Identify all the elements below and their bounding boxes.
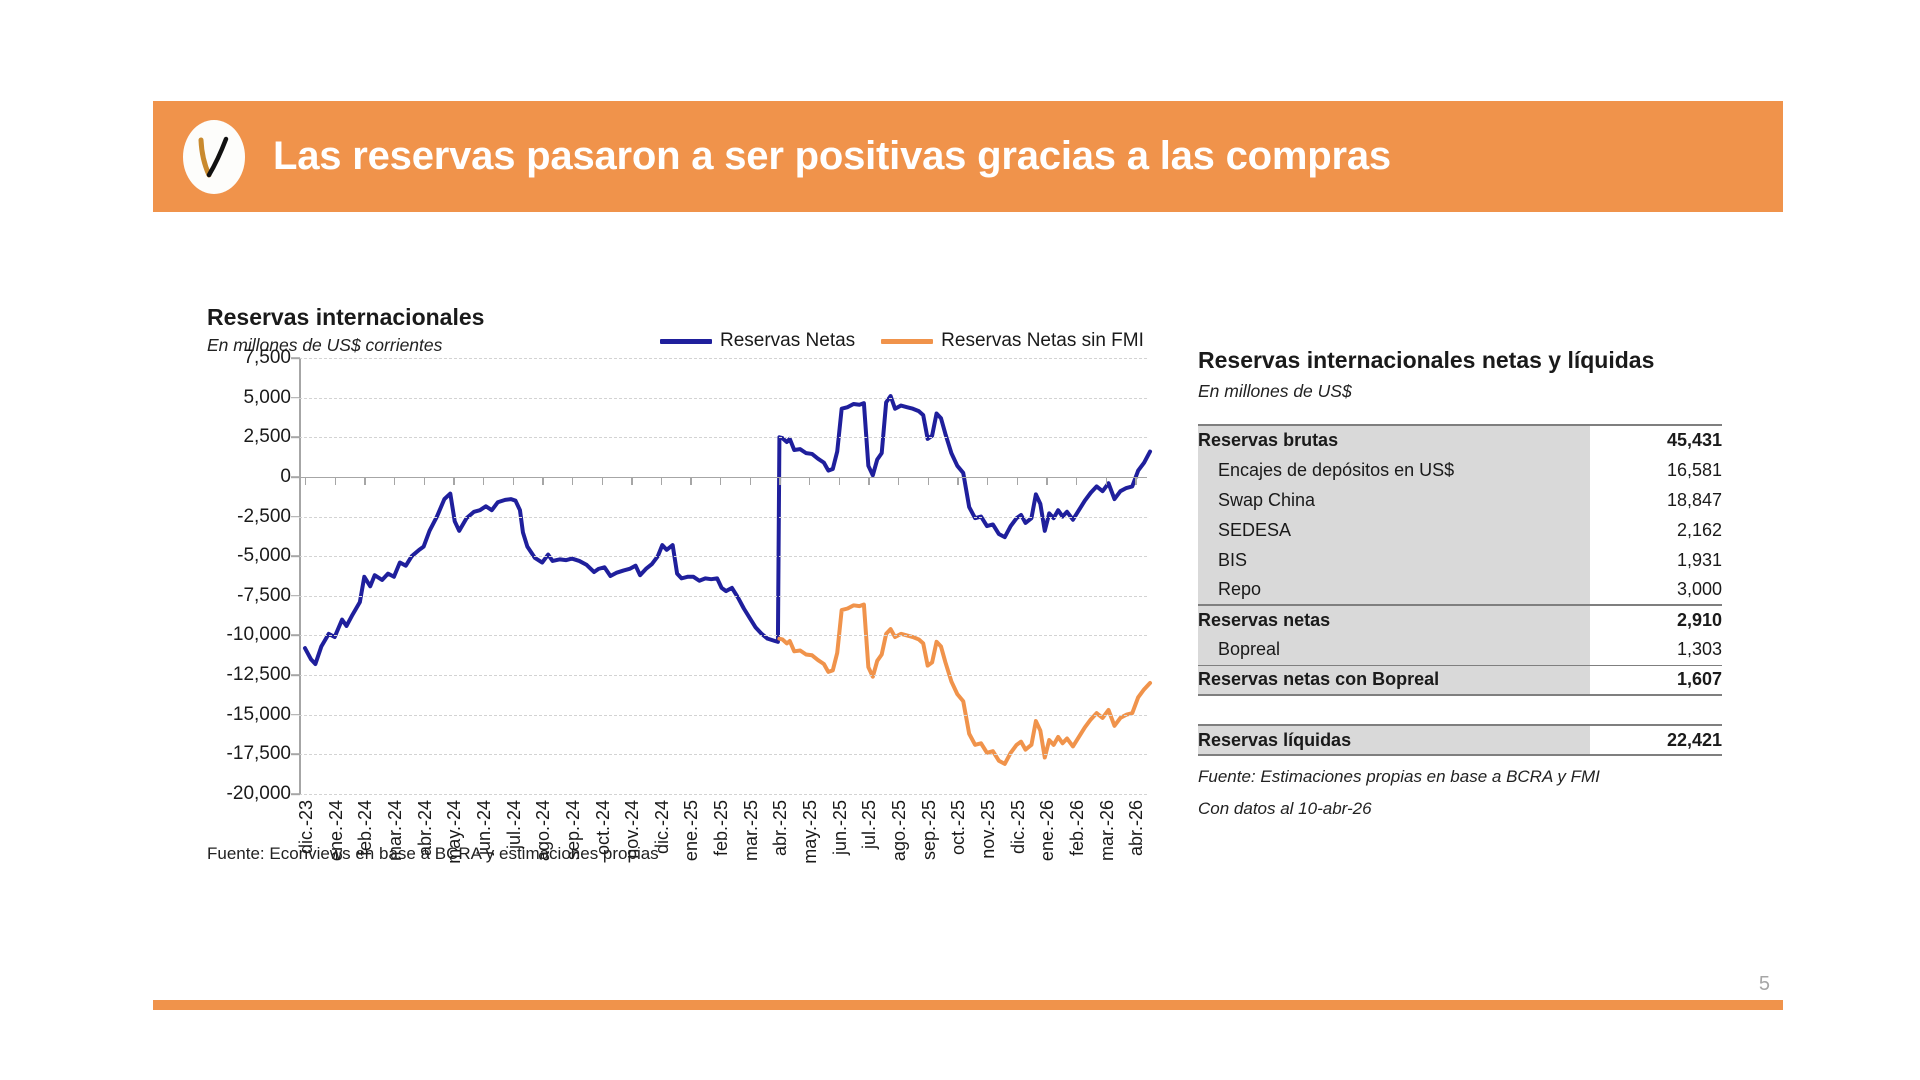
series-line [779,605,1150,764]
gridline [299,794,1147,795]
x-axis-tick [661,477,662,485]
table-row: Reservas netas con Bopreal1,607 [1198,665,1722,695]
table-subtitle: En millones de US$ [1198,381,1758,402]
y-axis-tick [291,516,300,518]
chart-source-note: Fuente: Econviews en base a BCRA y estim… [207,844,659,864]
table-row-value: 1,303 [1590,635,1722,665]
x-axis-tick-label: dic.-25 [1008,800,1029,854]
table-row: Swap China18,847 [1198,485,1722,515]
x-axis-tick-label: jul.-25 [859,800,880,849]
x-axis-tick [987,477,988,485]
x-axis-tick-label: jul.-24 [504,800,525,849]
y-axis-tick-label: 0 [280,466,291,488]
logo-wrap [183,120,245,194]
table-row-label: Repo [1198,575,1590,605]
x-axis-tick-label: mar.-26 [1097,800,1118,861]
y-axis-tick [291,357,300,359]
y-axis-tick [291,635,300,637]
y-axis-tick-label: 2,500 [243,426,291,448]
x-axis-tick-label: feb.-26 [1067,800,1088,856]
x-axis-tick-label: abr.-25 [770,800,791,856]
table-row: Reservas brutas45,431 [1198,425,1722,455]
table-row: Reservas líquidas22,421 [1198,725,1722,755]
series-line [305,396,1150,664]
x-axis-tick-label: abr.-26 [1126,800,1147,856]
table-row-label: Reservas netas con Bopreal [1198,665,1590,695]
x-axis-tick [750,477,751,485]
chart-lines [299,358,1147,794]
gridline [299,596,1147,597]
x-axis-tick [542,477,543,485]
legend-label: Reservas Netas sin FMI [941,330,1144,352]
legend-swatch-icon [881,339,933,344]
x-axis-tick-label: jun.-25 [830,800,851,855]
table-row: Reservas netas2,910 [1198,605,1722,635]
header-banner: Las reservas pasaron a ser positivas gra… [153,101,1783,212]
gridline [299,715,1147,716]
x-axis-tick-label: ene.-26 [1037,800,1058,861]
gridline [299,517,1147,518]
table-spacer-row [1198,695,1722,725]
table-row-value: 45,431 [1590,425,1722,455]
x-axis-tick [1076,477,1077,485]
gridline [299,754,1147,755]
x-axis-tick-label: oct.-25 [948,800,969,855]
y-axis-tick [291,754,300,756]
table-row-label: Reservas líquidas [1198,725,1590,755]
y-axis-tick-label: -20,000 [227,783,291,805]
table-row-label: BIS [1198,545,1590,575]
table-row-value: 16,581 [1590,455,1722,485]
table-row: SEDESA2,162 [1198,515,1722,545]
y-axis-tick-label: 7,500 [243,347,291,369]
y-axis-tick-label: -5,000 [237,545,291,567]
table-title: Reservas internacionales netas y líquida… [1198,347,1758,374]
econviews-v-logo-icon [183,120,245,194]
gridline [299,675,1147,676]
table-row: Repo3,000 [1198,575,1722,605]
gridline [299,437,1147,438]
table-source-note: Fuente: Estimaciones propias en base a B… [1198,767,1758,787]
table-date-note: Con datos al 10-abr-26 [1198,799,1758,819]
x-axis-tick [1106,477,1107,485]
x-axis-tick [1135,477,1136,485]
y-axis-tick [291,436,300,438]
y-axis-tick [291,397,300,399]
x-axis-tick [779,477,780,485]
y-axis-tick [291,555,300,557]
x-axis-tick [305,477,306,485]
plot-area: 7,5005,0002,5000-2,500-5,000-7,500-10,00… [207,358,1147,858]
y-axis-tick [291,476,300,478]
x-axis-tick-label: ene.-25 [681,800,702,861]
table-row-value: 18,847 [1590,485,1722,515]
x-axis-tick [720,477,721,485]
table-row-label: Encajes de depósitos en US$ [1198,455,1590,485]
table-row-label: Swap China [1198,485,1590,515]
grid-box [299,358,1147,794]
y-axis-tick-label: -12,500 [227,664,291,686]
x-axis-tick [1046,477,1047,485]
gridline [299,358,1147,359]
x-axis-tick [631,477,632,485]
gridline [299,556,1147,557]
table-panel: Reservas internacionales netas y líquida… [1198,347,1758,819]
x-axis-tick [424,477,425,485]
reserves-table: Reservas brutas45,431Encajes de depósito… [1198,424,1722,756]
table-row-label: Reservas netas [1198,605,1590,635]
x-axis-tick [513,477,514,485]
x-axis-tick [602,477,603,485]
x-axis-tick [483,477,484,485]
x-axis-tick [868,477,869,485]
x-axis-tick-label: nov.-25 [978,800,999,859]
y-axis-tick [291,714,300,716]
x-axis-tick [809,477,810,485]
chart-legend: Reservas Netas Reservas Netas sin FMI [660,330,1144,352]
table-row: BIS1,931 [1198,545,1722,575]
x-axis-tick-label: may.-25 [800,800,821,864]
x-axis-tick-label: ago.-25 [889,800,910,861]
x-axis-tick [1017,477,1018,485]
footer-bar [153,1000,1783,1010]
y-axis-tick-label: 5,000 [243,387,291,409]
chart-subtitle: En millones de US$ corrientes [207,335,442,356]
v-glyph-icon [192,132,236,182]
gridline [299,635,1147,636]
table-row-value: 3,000 [1590,575,1722,605]
chart-title: Reservas internacionales [207,304,484,331]
table-row-value: 1,607 [1590,665,1722,695]
legend-item-reservas-netas: Reservas Netas [660,330,855,352]
y-axis-tick-label: -7,500 [237,585,291,607]
x-axis-tick-label: sep.-25 [919,800,940,860]
y-axis-labels: 7,5005,0002,5000-2,500-5,000-7,500-10,00… [207,358,299,794]
y-axis-tick [291,793,300,795]
x-axis-tick [690,477,691,485]
x-axis-tick [839,477,840,485]
table-row-value: 1,931 [1590,545,1722,575]
slide: Las reservas pasaron a ser positivas gra… [0,0,1920,1080]
y-axis-tick-label: -15,000 [227,704,291,726]
table-row-label: Reservas brutas [1198,425,1590,455]
page-number: 5 [1759,973,1770,996]
table-row: Bopreal1,303 [1198,635,1722,665]
x-axis-tick [928,477,929,485]
x-axis-tick [453,477,454,485]
legend-swatch-icon [660,339,712,344]
y-axis-tick-label: -2,500 [237,506,291,528]
x-axis-tick [957,477,958,485]
x-axis-tick [394,477,395,485]
gridline [299,398,1147,399]
y-axis-tick [291,674,300,676]
zero-line [299,477,1147,478]
legend-item-reservas-netas-sin-fmi: Reservas Netas sin FMI [881,330,1144,352]
x-axis-tick [364,477,365,485]
x-axis-tick-label: feb.-25 [711,800,732,856]
table-row-label: SEDESA [1198,515,1590,545]
x-axis-tick [572,477,573,485]
y-axis-tick-label: -10,000 [227,624,291,646]
x-axis-tick [898,477,899,485]
x-axis-tick [335,477,336,485]
y-axis-tick-label: -17,500 [227,743,291,765]
table-row-value: 2,910 [1590,605,1722,635]
y-axis-tick [291,595,300,597]
x-axis-tick-label: mar.-25 [741,800,762,861]
page-title: Las reservas pasaron a ser positivas gra… [273,134,1391,179]
table-row: Encajes de depósitos en US$16,581 [1198,455,1722,485]
table-row-label: Bopreal [1198,635,1590,665]
legend-label: Reservas Netas [720,330,855,352]
table-row-value: 22,421 [1590,725,1722,755]
table-row-value: 2,162 [1590,515,1722,545]
